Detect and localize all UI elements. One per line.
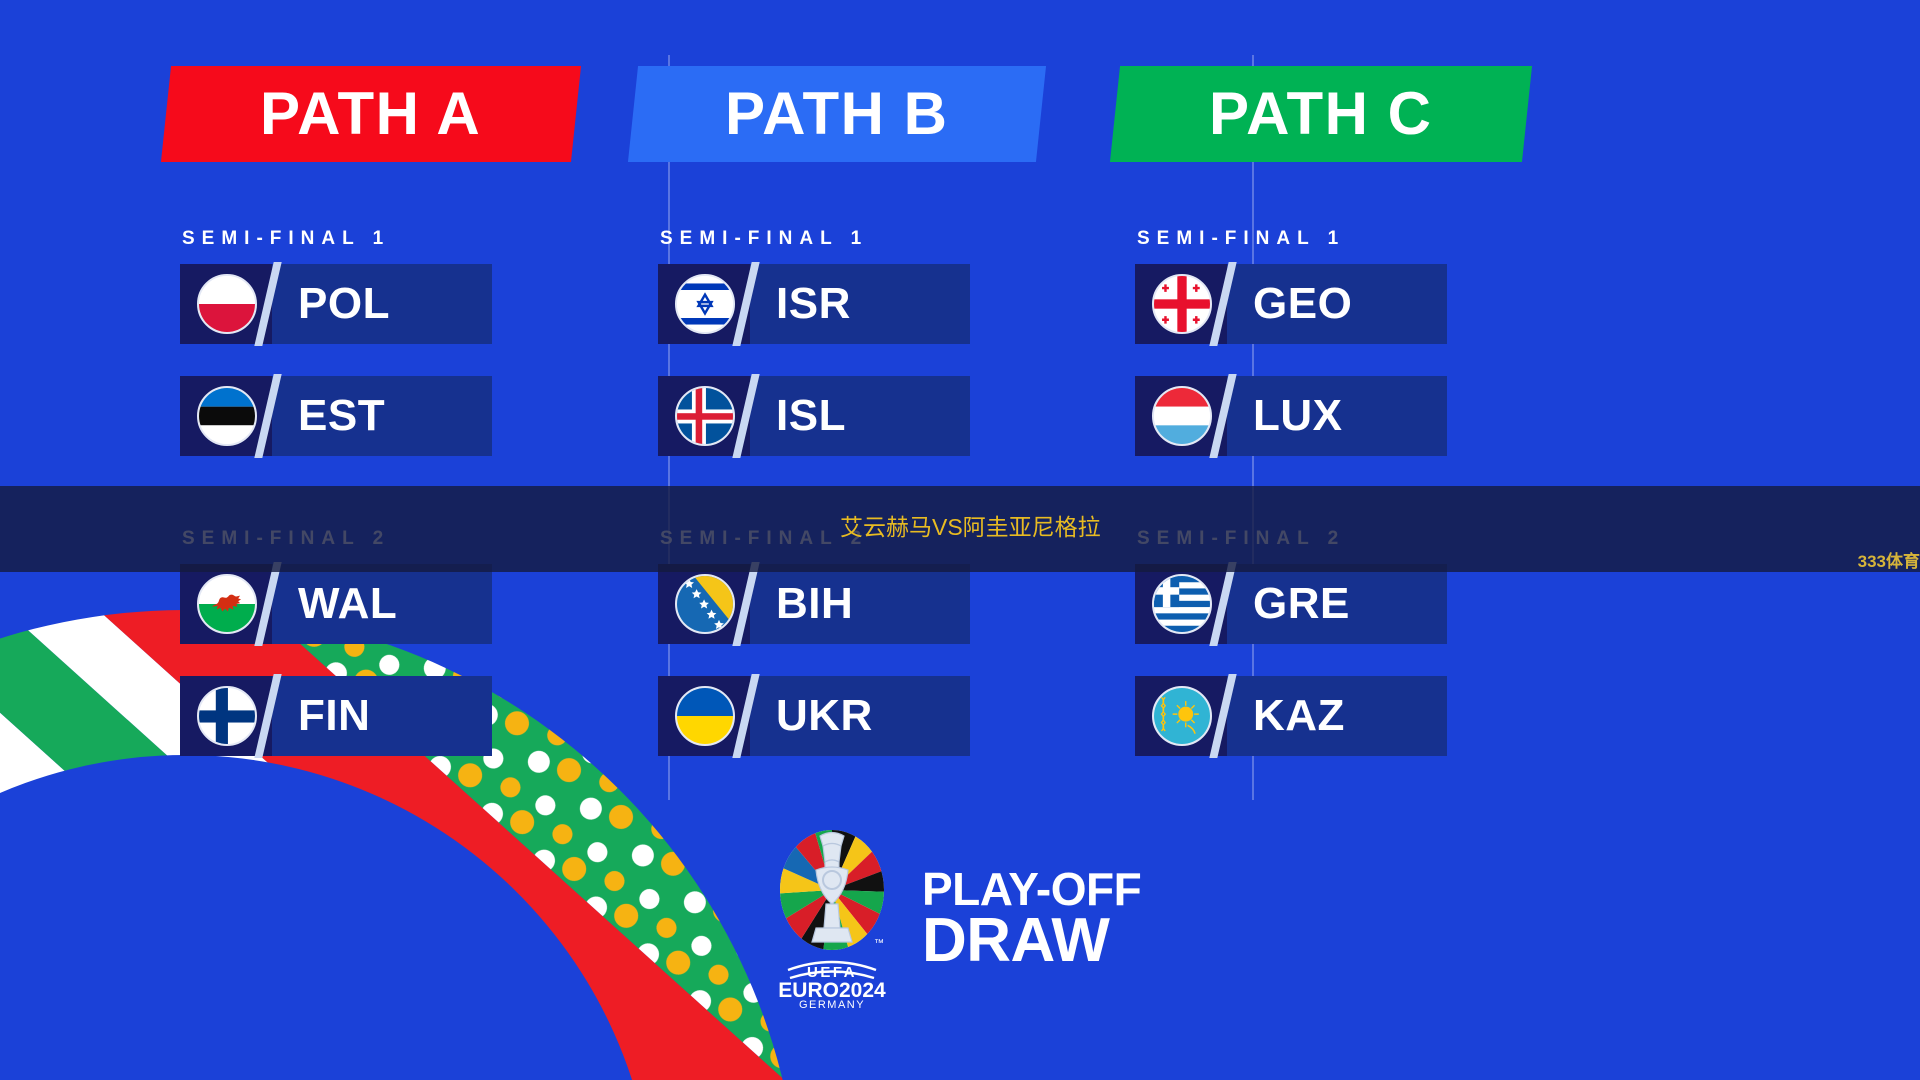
team-code-cell: GEO bbox=[1227, 264, 1447, 344]
team-code: GEO bbox=[1253, 282, 1352, 326]
team-code-cell: UKR bbox=[750, 676, 970, 756]
team-code: EST bbox=[298, 394, 385, 438]
overlay-watermark: 333体育 bbox=[1858, 547, 1920, 572]
greece-flag bbox=[1152, 574, 1212, 634]
team-code-cell: WAL bbox=[272, 564, 492, 644]
wales-flag bbox=[197, 574, 257, 634]
semifinal-label-c-1: SEMI-FINAL 1 bbox=[1137, 228, 1345, 250]
team-row[interactable]: ISR bbox=[658, 264, 970, 344]
team-row[interactable]: EST bbox=[180, 376, 492, 456]
overlay-caption: 艾云赫马VS阿圭亚尼格拉 bbox=[840, 508, 1101, 542]
estonia-flag bbox=[197, 386, 257, 446]
team-code: WAL bbox=[298, 582, 397, 626]
luxembourg-flag bbox=[1152, 386, 1212, 446]
svg-text:™: ™ bbox=[874, 938, 884, 949]
poland-flag bbox=[197, 274, 257, 334]
team-code: UKR bbox=[776, 694, 873, 738]
team-code: ISR bbox=[776, 282, 851, 326]
team-code: FIN bbox=[298, 694, 370, 738]
footer-branding: ™ UEFA EURO2024 GERMANY PLAY-OFF DRAW bbox=[770, 828, 1141, 1010]
path-header-a: PATH A bbox=[161, 66, 581, 162]
team-code-cell: ISR bbox=[750, 264, 970, 344]
team-row[interactable]: POL bbox=[180, 264, 492, 344]
semifinal-label-a-1: SEMI-FINAL 1 bbox=[182, 228, 390, 250]
team-row[interactable]: GRE bbox=[1135, 564, 1447, 644]
team-code-cell: BIH bbox=[750, 564, 970, 644]
team-code-cell: ISL bbox=[750, 376, 970, 456]
israel-flag bbox=[675, 274, 735, 334]
uefa-euro-2024-wordmark: UEFA EURO2024 GERMANY bbox=[772, 954, 892, 1010]
finland-flag bbox=[197, 686, 257, 746]
path-header-a-label: PATH A bbox=[260, 84, 481, 144]
title-line-2: DRAW bbox=[922, 911, 1141, 971]
svg-text:GERMANY: GERMANY bbox=[799, 999, 865, 1010]
team-code-cell: GRE bbox=[1227, 564, 1447, 644]
playoff-draw-graphic: PATH A SEMI-FINAL 1 POL bbox=[0, 0, 1920, 1080]
team-code: ISL bbox=[776, 394, 846, 438]
team-row[interactable]: ISL bbox=[658, 376, 970, 456]
path-header-b-label: PATH B bbox=[725, 84, 948, 144]
path-header-c: PATH C bbox=[1110, 66, 1532, 162]
ukraine-flag bbox=[675, 686, 735, 746]
georgia-flag bbox=[1152, 274, 1212, 334]
team-code-cell: KAZ bbox=[1227, 676, 1447, 756]
team-code: GRE bbox=[1253, 582, 1350, 626]
henri-delaunay-trophy-icon: ™ bbox=[776, 828, 888, 952]
team-code-cell: FIN bbox=[272, 676, 492, 756]
bosnia-flag bbox=[675, 574, 735, 634]
page-title: PLAY-OFF DRAW bbox=[922, 867, 1141, 971]
iceland-flag bbox=[675, 386, 735, 446]
team-code: BIH bbox=[776, 582, 853, 626]
kazakhstan-flag bbox=[1152, 686, 1212, 746]
team-row[interactable]: KAZ bbox=[1135, 676, 1447, 756]
title-line-1: PLAY-OFF bbox=[922, 867, 1141, 911]
path-header-b: PATH B bbox=[628, 66, 1046, 162]
team-code-cell: EST bbox=[272, 376, 492, 456]
team-row[interactable]: FIN bbox=[180, 676, 492, 756]
team-row[interactable]: BIH bbox=[658, 564, 970, 644]
team-code: LUX bbox=[1253, 394, 1343, 438]
semifinal-label-b-1: SEMI-FINAL 1 bbox=[660, 228, 868, 250]
team-code-cell: POL bbox=[272, 264, 492, 344]
team-code-cell: LUX bbox=[1227, 376, 1447, 456]
path-header-c-label: PATH C bbox=[1209, 84, 1432, 144]
uefa-euro-2024-germany-logo: ™ UEFA EURO2024 GERMANY bbox=[770, 828, 894, 1010]
team-row[interactable]: LUX bbox=[1135, 376, 1447, 456]
team-row[interactable]: UKR bbox=[658, 676, 970, 756]
team-row[interactable]: GEO bbox=[1135, 264, 1447, 344]
team-code: POL bbox=[298, 282, 390, 326]
team-row[interactable]: WAL bbox=[180, 564, 492, 644]
team-code: KAZ bbox=[1253, 694, 1345, 738]
